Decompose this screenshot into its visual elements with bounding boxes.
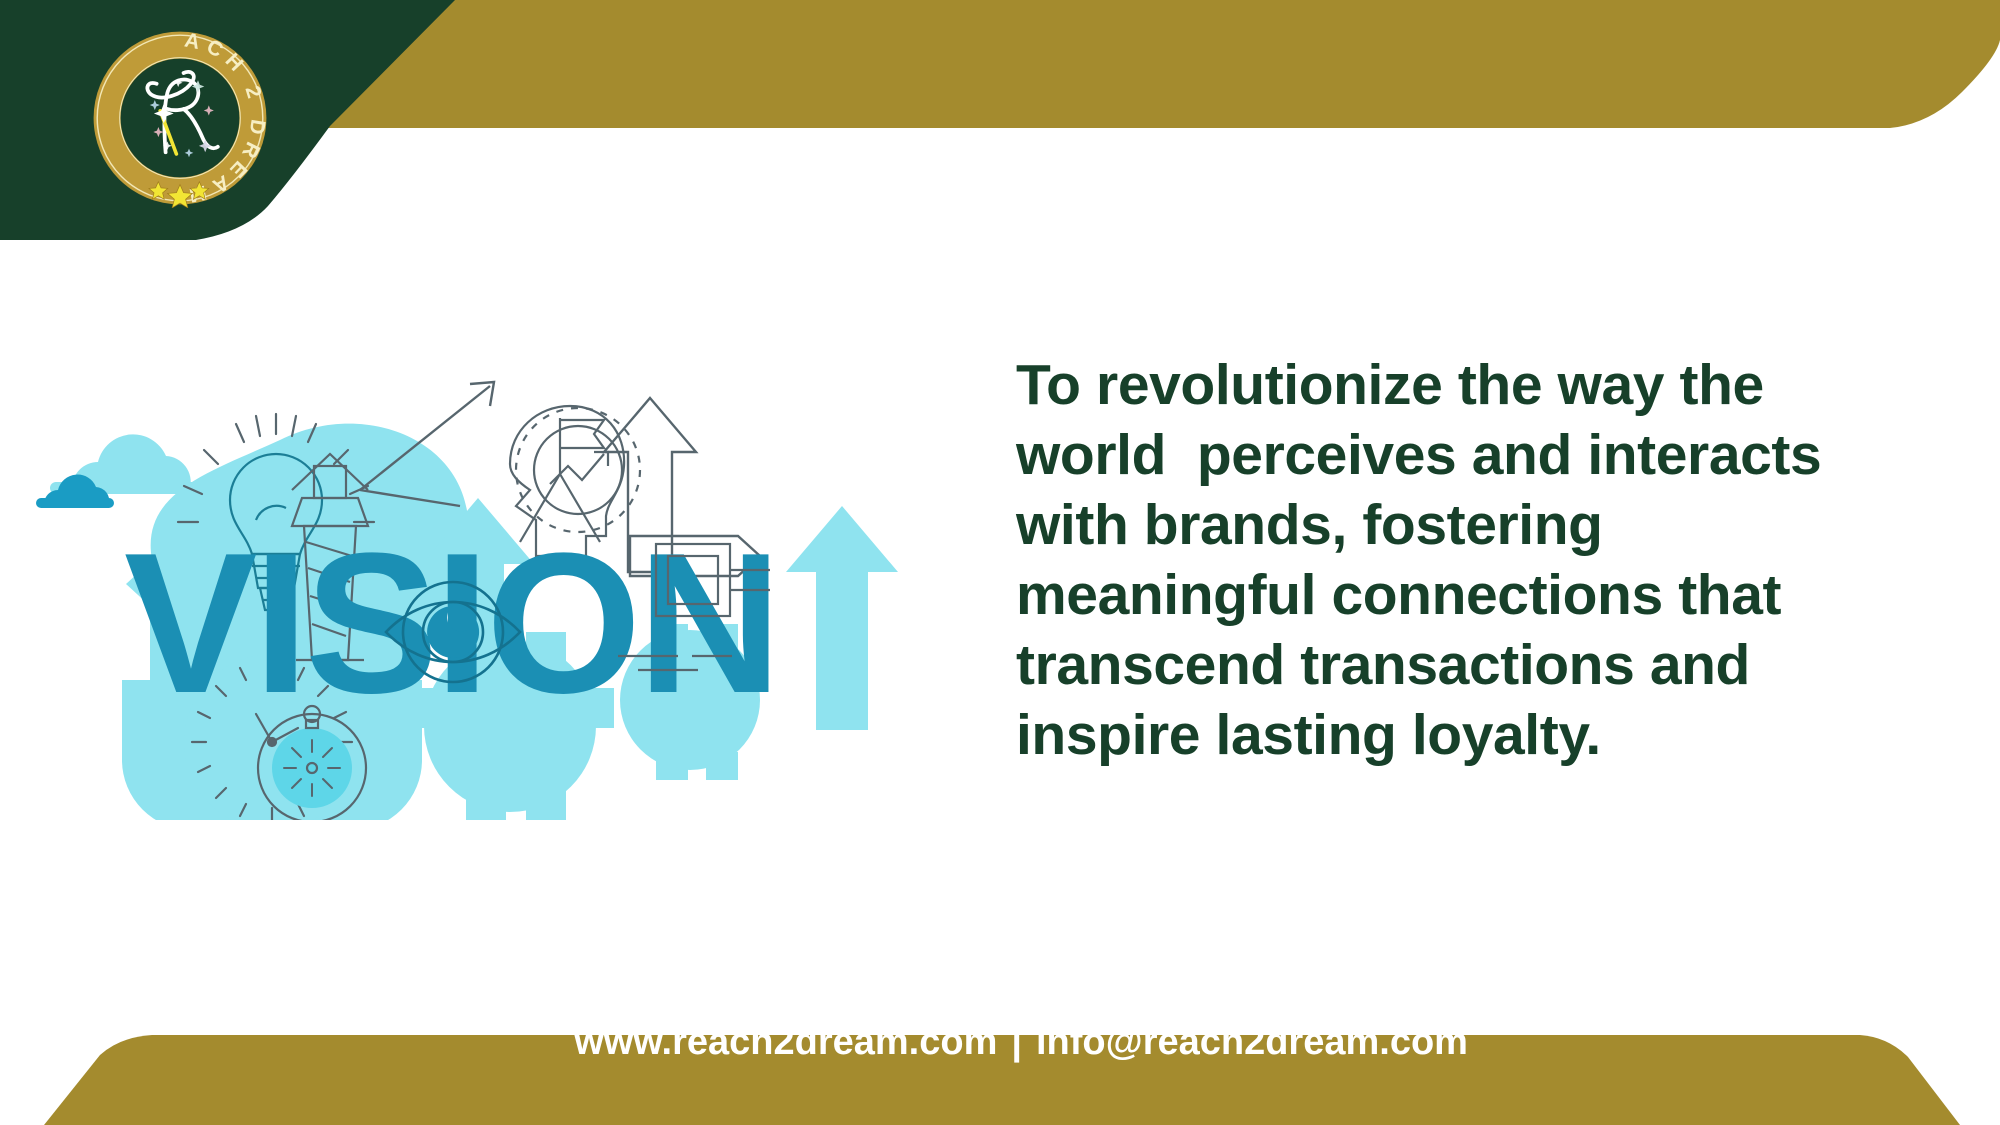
vision-statement-line-3: with brands, fostering xyxy=(1016,490,1876,560)
vision-statement-line-2: world perceives and interacts xyxy=(1016,420,1876,490)
vision-statement-line-5: transcend transactions and xyxy=(1016,630,1876,700)
vision-statement-line-4: meaningful connections that xyxy=(1016,560,1876,630)
vision-word: VISION xyxy=(124,512,778,735)
logo-inner-disc xyxy=(121,59,240,178)
vision-word-text: VISION xyxy=(124,512,778,735)
vision-statement-block: To revolutionize the way the world perce… xyxy=(1016,350,1876,770)
vision-statement-line-1: To revolutionize the way the xyxy=(1016,350,1876,420)
footer-contact-text: www.reach2dream.com|info@reach2dream.com xyxy=(0,978,2000,1107)
vision-statement-line-6: inspire lasting loyalty. xyxy=(1016,700,1876,770)
arrow-up-solid-2 xyxy=(786,506,898,730)
footer-website[interactable]: www.reach2dream.com xyxy=(574,1021,997,1063)
slide-canvas: REACH 2 DREAM xyxy=(0,0,2000,1125)
logo-reach2dream[interactable]: REACH 2 DREAM xyxy=(90,28,270,208)
footer-email[interactable]: info@reach2dream.com xyxy=(1036,1021,1468,1063)
footer-separator: | xyxy=(997,1021,1036,1063)
vision-illustration: VISION xyxy=(30,370,960,820)
